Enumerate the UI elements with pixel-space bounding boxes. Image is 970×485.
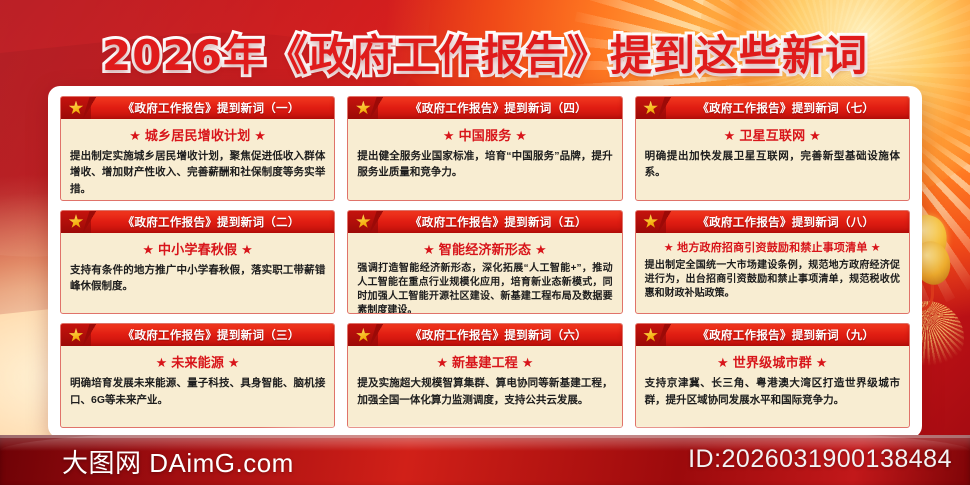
card-banner: 《政府工作报告》提到新词（七）	[636, 97, 909, 119]
card-body: ★ 新基建工程 ★ 提及实施超大规模智算集群、算电协同等新基建工程，加强全国一体…	[348, 346, 621, 427]
card-banner-label: 《政府工作报告》提到新词（三）	[96, 327, 334, 343]
card-description: 提出制定全国统一大市场建设条例，规范地方政府经济促进行为，出台招商引资鼓励和禁止…	[645, 259, 900, 302]
gold-star-icon	[69, 101, 84, 116]
card-description: 提出健全服务业国家标准，培育“中国服务”品牌，提升服务业质量和竞争力。	[357, 148, 612, 181]
card-body: ★ 卫星互联网 ★ 明确提出加快发展卫星互联网，完善新型基础设施体系。	[636, 119, 909, 200]
card-body: ★ 世界级城市群 ★ 支持京津冀、长三角、粤港澳大湾区打造世界级城市群，提升区域…	[636, 346, 909, 427]
card-banner-label: 《政府工作报告》提到新词（五）	[383, 214, 621, 230]
card-description: 强调打造智能经济新形态，深化拓展“人工智能+”，推动人工智能在重点行业规模化应用…	[357, 262, 612, 315]
card-banner: 《政府工作报告》提到新词（三）	[61, 324, 334, 346]
gold-star-icon	[643, 101, 658, 116]
gold-star-icon	[356, 214, 371, 229]
card-item[interactable]: 《政府工作报告》提到新词（七） ★ 卫星互联网 ★ 明确提出加快发展卫星互联网，…	[635, 96, 910, 201]
card-banner: 《政府工作报告》提到新词（四）	[348, 97, 621, 119]
card-body: ★ 城乡居民增收计划 ★ 提出制定实施城乡居民增收计划，聚焦促进低收入群体增收、…	[61, 119, 334, 201]
card-banner-label: 《政府工作报告》提到新词（九）	[671, 327, 909, 343]
card-title: ★ 智能经济新形态 ★	[357, 239, 612, 258]
card-item[interactable]: 《政府工作报告》提到新词（一） ★ 城乡居民增收计划 ★ 提出制定实施城乡居民增…	[60, 96, 335, 201]
card-item[interactable]: 《政府工作报告》提到新词（二） ★ 中小学春秋假 ★ 支持有条件的地方推广中小学…	[60, 210, 335, 315]
card-description: 明确提出加快发展卫星互联网，完善新型基础设施体系。	[645, 148, 900, 181]
gold-star-icon	[356, 101, 371, 116]
card-item[interactable]: 《政府工作报告》提到新词（五） ★ 智能经济新形态 ★ 强调打造智能经济新形态，…	[347, 210, 622, 315]
card-body: ★ 中小学春秋假 ★ 支持有条件的地方推广中小学春秋假，落实职工带薪错峰休假制度…	[61, 233, 334, 314]
card-title: ★ 卫星互联网 ★	[645, 125, 900, 144]
card-banner: 《政府工作报告》提到新词（九）	[636, 324, 909, 346]
card-body: ★ 智能经济新形态 ★ 强调打造智能经济新形态，深化拓展“人工智能+”，推动人工…	[348, 233, 621, 315]
gold-star-icon	[356, 328, 371, 343]
card-banner: 《政府工作报告》提到新词（五）	[348, 211, 621, 233]
poster-title-area: 2026年《政府工作报告》提到这些新词	[0, 22, 970, 83]
card-banner: 《政府工作报告》提到新词（二）	[61, 211, 334, 233]
card-body: ★ 中国服务 ★ 提出健全服务业国家标准，培育“中国服务”品牌，提升服务业质量和…	[348, 119, 621, 200]
card-banner: 《政府工作报告》提到新词（八）	[636, 211, 909, 233]
card-title: ★ 地方政府招商引资鼓励和禁止事项清单 ★	[645, 239, 900, 255]
card-item[interactable]: 《政府工作报告》提到新词（六） ★ 新基建工程 ★ 提及实施超大规模智算集群、算…	[347, 323, 622, 428]
card-title: ★ 城乡居民增收计划 ★	[70, 125, 325, 144]
site-watermark: 大图网 DAimG.com	[62, 443, 294, 480]
card-item[interactable]: 《政府工作报告》提到新词（九） ★ 世界级城市群 ★ 支持京津冀、长三角、粤港澳…	[635, 323, 910, 428]
card-banner: 《政府工作报告》提到新词（一）	[61, 97, 334, 119]
image-id-watermark: ID:2026031900138484	[688, 445, 952, 474]
card-banner-label: 《政府工作报告》提到新词（七）	[671, 100, 909, 116]
content-panel: 《政府工作报告》提到新词（一） ★ 城乡居民增收计划 ★ 提出制定实施城乡居民增…	[48, 86, 922, 438]
card-title: ★ 世界级城市群 ★	[645, 352, 900, 371]
card-body: ★ 未来能源 ★ 明确培育发展未来能源、量子科技、具身智能、脑机接口、6G等未来…	[61, 346, 334, 427]
card-title: ★ 中小学春秋假 ★	[70, 239, 325, 258]
gold-star-icon	[69, 214, 84, 229]
card-banner-label: 《政府工作报告》提到新词（八）	[671, 214, 909, 230]
card-description: 提及实施超大规模智算集群、算电协同等新基建工程，加强全国一体化算力监测调度，支持…	[357, 375, 612, 408]
card-description: 支持有条件的地方推广中小学春秋假，落实职工带薪错峰休假制度。	[70, 262, 325, 295]
card-description: 明确培育发展未来能源、量子科技、具身智能、脑机接口、6G等未来产业。	[70, 375, 325, 408]
card-description: 支持京津冀、长三角、粤港澳大湾区打造世界级城市群，提升区域协同发展水平和国际竞争…	[645, 375, 900, 408]
card-title: ★ 新基建工程 ★	[357, 352, 612, 371]
watermark-bar: 大图网 DAimG.com ID:2026031900138484	[0, 435, 970, 485]
card-title: ★ 中国服务 ★	[357, 125, 612, 144]
poster-canvas: 2026年《政府工作报告》提到这些新词 《政府工作报告》提到新词（一） ★ 城乡…	[0, 0, 970, 485]
gold-star-icon	[643, 328, 658, 343]
gold-star-icon	[643, 214, 658, 229]
card-banner-label: 《政府工作报告》提到新词（六）	[383, 327, 621, 343]
card-item[interactable]: 《政府工作报告》提到新词（三） ★ 未来能源 ★ 明确培育发展未来能源、量子科技…	[60, 323, 335, 428]
card-title: ★ 未来能源 ★	[70, 352, 325, 371]
card-item[interactable]: 《政府工作报告》提到新词（四） ★ 中国服务 ★ 提出健全服务业国家标准，培育“…	[347, 96, 622, 201]
card-banner-label: 《政府工作报告》提到新词（一）	[96, 100, 334, 116]
card-banner: 《政府工作报告》提到新词（六）	[348, 324, 621, 346]
page-title: 2026年《政府工作报告》提到这些新词	[102, 22, 868, 83]
gold-star-icon	[69, 328, 84, 343]
cards-grid: 《政府工作报告》提到新词（一） ★ 城乡居民增收计划 ★ 提出制定实施城乡居民增…	[60, 96, 910, 428]
card-body: ★ 地方政府招商引资鼓励和禁止事项清单 ★ 提出制定全国统一大市场建设条例，规范…	[636, 233, 909, 314]
card-item[interactable]: 《政府工作报告》提到新词（八） ★ 地方政府招商引资鼓励和禁止事项清单 ★ 提出…	[635, 210, 910, 315]
card-banner-label: 《政府工作报告》提到新词（四）	[383, 100, 621, 116]
card-description: 提出制定实施城乡居民增收计划，聚焦促进低收入群体增收、增加财产性收入、完善薪酬和…	[70, 148, 325, 197]
card-banner-label: 《政府工作报告》提到新词（二）	[96, 214, 334, 230]
